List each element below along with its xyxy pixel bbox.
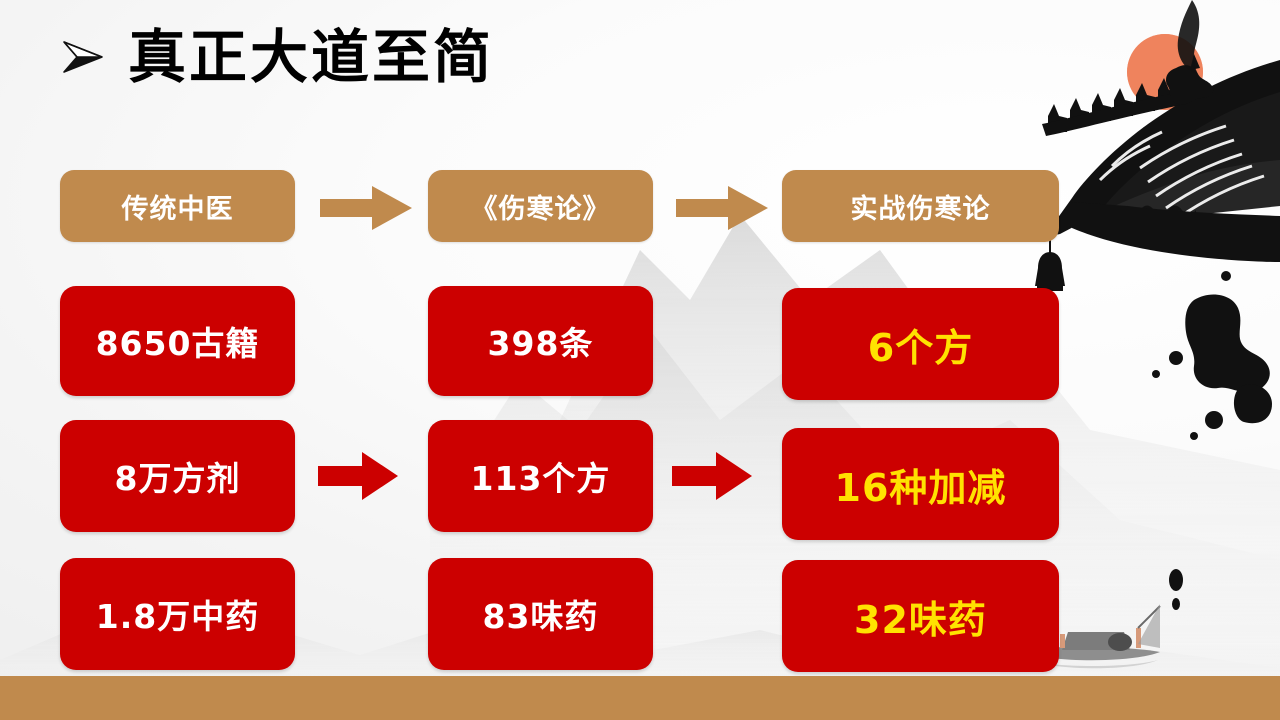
arrow-right-icon <box>676 186 768 230</box>
header-box-traditional-tcm[interactable]: 传统中医 <box>60 170 295 242</box>
cell-box-r1c1[interactable]: 8650古籍 <box>60 286 295 396</box>
cell-box-label: 113个方 <box>471 452 611 500</box>
cell-box-r1c3[interactable]: 6个方 <box>782 288 1059 400</box>
arrow-right-icon <box>318 452 398 500</box>
cell-box-r3c2[interactable]: 83味药 <box>428 558 653 670</box>
header-box-label: 实战伤寒论 <box>851 187 991 226</box>
cell-box-label: 398条 <box>488 317 594 365</box>
header-box-shanghanlun[interactable]: 《伤寒论》 <box>428 170 653 242</box>
slide: 真正大道至简 传统中医 《伤寒论》 实战伤寒论 8650古籍 398条 6个方 <box>0 0 1280 720</box>
arrow-right-icon <box>672 452 752 500</box>
arrow-right-icon <box>320 186 412 230</box>
header-box-label: 传统中医 <box>122 187 234 226</box>
cell-box-r1c2[interactable]: 398条 <box>428 286 653 396</box>
cell-box-r3c1[interactable]: 1.8万中药 <box>60 558 295 670</box>
cell-box-label: 6个方 <box>868 317 973 372</box>
process-diagram: 传统中医 《伤寒论》 实战伤寒论 8650古籍 398条 6个方 8万方剂 <box>0 0 1280 720</box>
cell-box-label: 32味药 <box>854 589 987 644</box>
cell-box-r2c2[interactable]: 113个方 <box>428 420 653 532</box>
header-box-label: 《伤寒论》 <box>471 187 611 226</box>
cell-box-label: 16种加减 <box>835 457 1007 512</box>
cell-box-label: 8650古籍 <box>96 317 260 365</box>
cell-box-r2c3[interactable]: 16种加减 <box>782 428 1059 540</box>
footer-bar <box>0 676 1280 720</box>
cell-box-r3c3[interactable]: 32味药 <box>782 560 1059 672</box>
cell-box-label: 83味药 <box>483 590 599 638</box>
cell-box-label: 8万方剂 <box>115 452 241 500</box>
cell-box-r2c1[interactable]: 8万方剂 <box>60 420 295 532</box>
header-box-practical-shanghanlun[interactable]: 实战伤寒论 <box>782 170 1059 242</box>
cell-box-label: 1.8万中药 <box>96 590 259 638</box>
